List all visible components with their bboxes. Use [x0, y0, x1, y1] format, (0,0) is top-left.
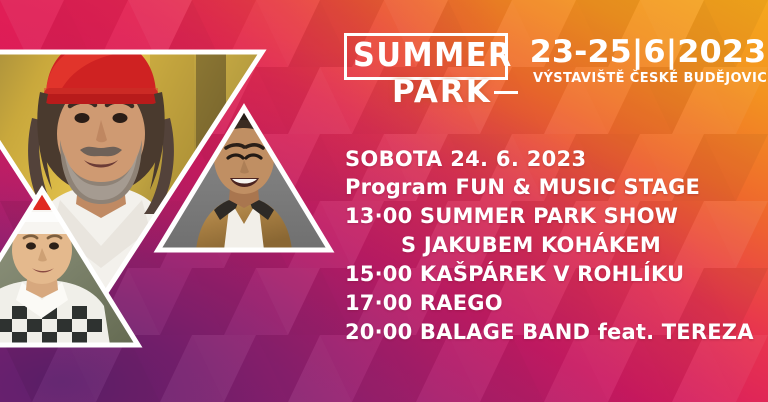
photo-collage — [0, 0, 340, 402]
program-line-5: 20·00 BALAGE BAND feat. TEREZA — [345, 318, 745, 347]
program-line-2: S JAKUBEM KOHÁKEM — [345, 231, 745, 260]
festival-dates: 23-25|6|2023 — [530, 36, 761, 69]
festival-venue: VÝSTAVIŠTĚ ČESKÉ BUDĚJOVICE — [533, 71, 757, 86]
date-block: 23-25|6|2023 VÝSTAVIŠTĚ ČESKÉ BUDĚJOVICE — [533, 36, 757, 86]
logo-rule — [494, 91, 518, 94]
logo-summer-text: SUMMER — [353, 37, 513, 73]
poster-canvas: SUMMER PARK 23-25|6|2023 VÝSTAVIŠTĚ ČESK… — [0, 0, 768, 402]
logo-park-text: PARK — [392, 75, 492, 109]
summer-park-logo: SUMMER PARK — [344, 33, 520, 111]
program-block: SOBOTA 24. 6. 2023 Program FUN & MUSIC S… — [345, 146, 745, 347]
program-day: SOBOTA 24. 6. 2023 — [345, 146, 745, 173]
program-line-1: 13·00 SUMMER PARK SHOW — [345, 202, 745, 231]
program-line-4: 17·00 RAEGO — [345, 289, 745, 318]
program-stage: Program FUN & MUSIC STAGE — [345, 173, 745, 202]
program-line-3: 15·00 KAŠPÁREK V ROHLÍKU — [345, 260, 745, 289]
